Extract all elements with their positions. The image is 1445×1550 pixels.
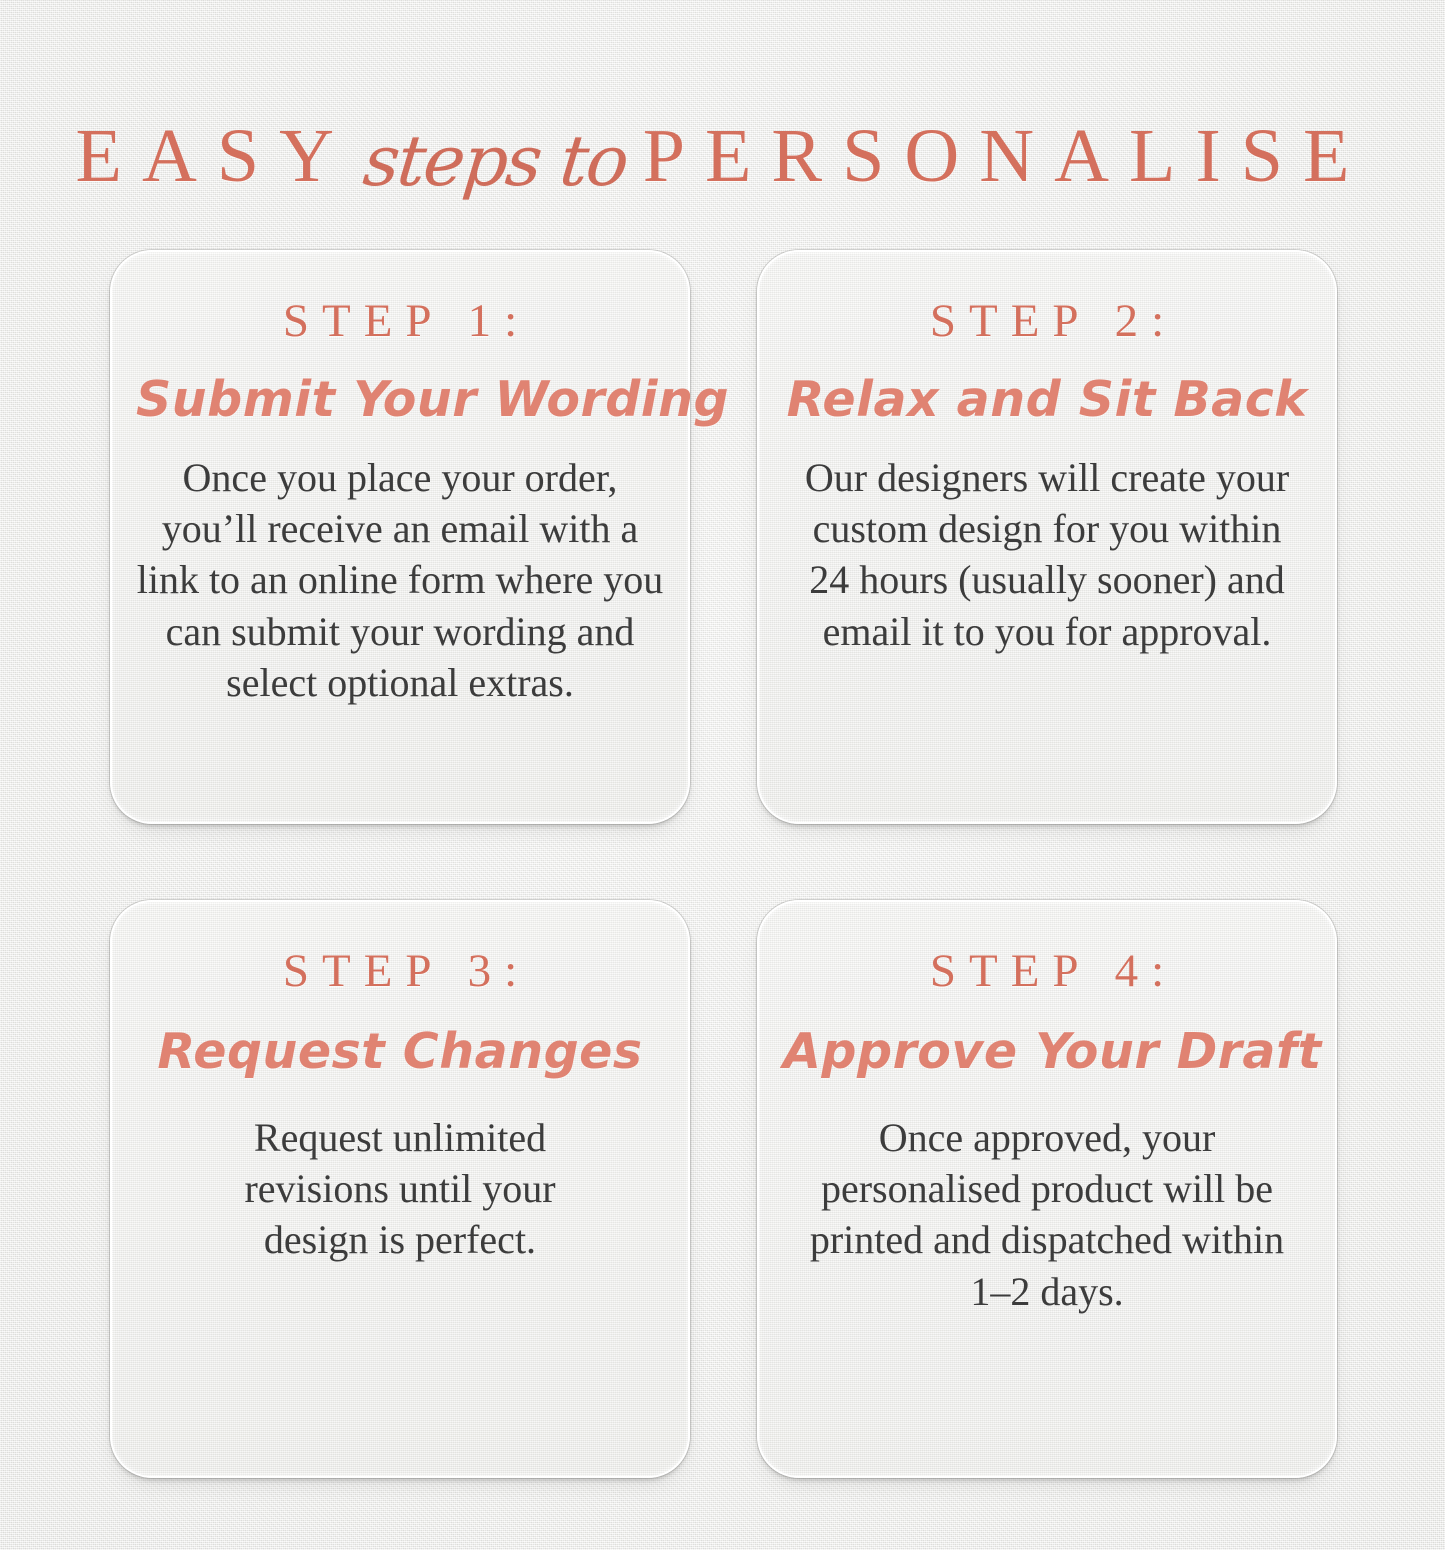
headline-word-easy: EASY [76,114,354,198]
step-4-title: Approve Your Draft [783,1027,1311,1078]
step-card-4: STEP 4: Approve Your Draft Once approved… [757,900,1337,1478]
step-card-3: STEP 3: Request Changes Request unlimite… [110,900,690,1478]
step-card-4-content: STEP 4: Approve Your Draft Once approved… [759,902,1335,1317]
step-3-label: STEP 3: [149,948,664,995]
step-4-label: STEP 4: [796,948,1311,995]
step-3-body: Request unlimited revisions until your d… [190,1112,610,1266]
infographic-page: EASYsteps toPERSONALISE STEP 1: Submit Y… [0,0,1445,1550]
step-card-2-content: STEP 2: Relax and Sit Back Our designers… [759,252,1335,657]
step-card-1: STEP 1: Submit Your Wording Once you pla… [110,250,690,824]
step-card-1-content: STEP 1: Submit Your Wording Once you pla… [112,252,688,708]
step-card-3-content: STEP 3: Request Changes Request unlimite… [112,902,688,1266]
step-4-body: Once approved, your personalised product… [787,1112,1307,1317]
step-1-body: Once you place your order, you’ll receiv… [136,452,664,708]
page-title: EASYsteps toPERSONALISE [0,118,1445,194]
step-1-title: Submit Your Wording [136,375,664,426]
step-3-title: Request Changes [136,1027,664,1078]
step-card-2: STEP 2: Relax and Sit Back Our designers… [757,250,1337,824]
step-2-label: STEP 2: [796,298,1311,345]
step-1-label: STEP 1: [149,298,664,345]
headline-word-personalise: PERSONALISE [643,114,1370,198]
headline-script-steps-to: steps to [350,126,646,196]
step-2-title: Relax and Sit Back [783,375,1311,426]
step-2-body: Our designers will create your custom de… [795,452,1300,657]
